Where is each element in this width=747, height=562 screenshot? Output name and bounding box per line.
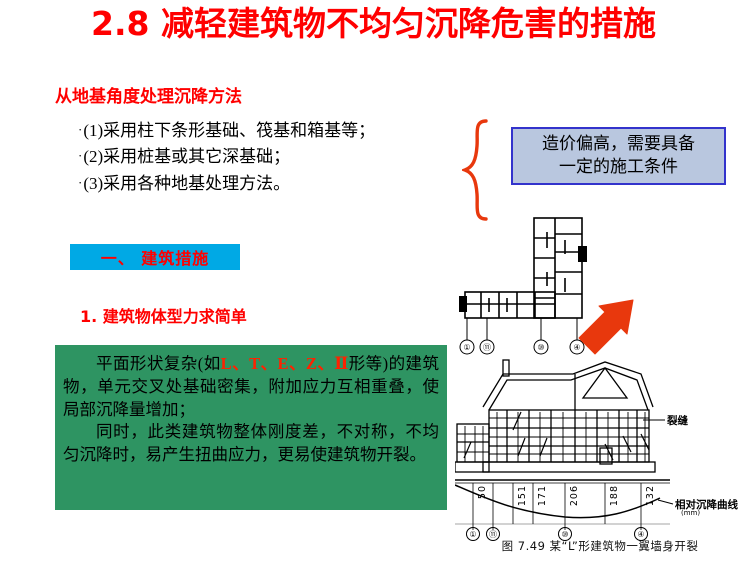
green-note-paragraph-2: 同时，此类建筑物整体刚度差，不对称，不均匀沉降时，易产生扭曲应力，更易使建筑物开…: [63, 421, 439, 467]
page-title: 2.8 减轻建筑物不均匀沉降危害的措施: [0, 6, 747, 42]
plan-axis-mark: ①: [463, 343, 470, 352]
sub-heading: 从地基角度处理沉降方法: [55, 82, 242, 107]
green-note-box: 平面形状复杂(如L、T、E、Z、Ⅱ形等)的建筑物，单元交叉处基础密集，附加应力互…: [55, 345, 447, 510]
list-item: ·(1)采用柱下条形基础、筏基和箱基等；: [78, 118, 478, 144]
green-note-p1-a: 平面形状复杂(如: [96, 354, 221, 373]
callout-line-2: 一定的施工条件: [559, 156, 678, 179]
callout-line-1: 造价偏高，需要具备: [542, 133, 695, 156]
plan-axis-mark: ⑩: [537, 343, 544, 352]
section-header-label: 一、 建筑措施: [101, 245, 210, 269]
settlement-value: 206: [569, 485, 580, 506]
plan-axis-mark: ⑪: [483, 343, 491, 352]
list-item: ·(2)采用桩基或其它深基础；: [78, 144, 478, 170]
list-item-text: (2)采用桩基或其它深基础；: [83, 147, 290, 166]
list-item-text: (1)采用柱下条形基础、筏基和箱基等；: [83, 121, 375, 140]
green-note-paragraph-1: 平面形状复杂(如L、T、E、Z、Ⅱ形等)的建筑物，单元交叉处基础密集，附加应力互…: [63, 353, 439, 421]
green-note-highlight-shapes: L、T、E、Z、Ⅱ: [221, 354, 349, 373]
bullet-list: ·(1)采用柱下条形基础、筏基和箱基等； ·(2)采用桩基或其它深基础； ·(3…: [78, 118, 478, 197]
callout-box-cost: 造价偏高，需要具备 一定的施工条件: [511, 127, 726, 185]
settlement-value: 188: [609, 485, 620, 506]
elevation-drawing: ① ⑪ ⑩ ④: [455, 352, 745, 542]
list-item: ·(3)采用各种地基处理方法。: [78, 171, 478, 197]
subsection-heading: 1. 建筑物体型力求简单: [80, 303, 247, 327]
settlement-value: 171: [537, 485, 548, 506]
bullet-dot: ·: [78, 148, 82, 163]
bullet-dot: ·: [78, 175, 82, 190]
figure-l-shaped-building: ① ⑪ ⑩ ④: [455, 212, 745, 560]
bullet-dot: ·: [78, 122, 82, 137]
section-header-box: 一、 建筑措施: [70, 244, 240, 270]
settlement-value: 151: [517, 485, 528, 506]
red-arrow-icon: [579, 300, 633, 354]
slide-canvas: 2.8 减轻建筑物不均匀沉降危害的措施 从地基角度处理沉降方法 ·(1)采用柱下…: [0, 0, 747, 562]
settlement-value: 50: [477, 485, 488, 499]
crack-label: 裂缝: [667, 413, 688, 428]
settlement-curve-unit: (mm): [681, 509, 700, 517]
settlement-value: 132: [645, 485, 656, 506]
figure-caption: 图 7.49 某“L”形建筑物一翼墙身开裂: [455, 538, 745, 554]
list-item-text: (3)采用各种地基处理方法。: [83, 174, 290, 193]
floor-plan-drawing: ① ⑪ ⑩ ④: [455, 212, 745, 362]
plan-axis-mark: ④: [573, 343, 580, 352]
curly-brace-icon: [462, 118, 496, 222]
